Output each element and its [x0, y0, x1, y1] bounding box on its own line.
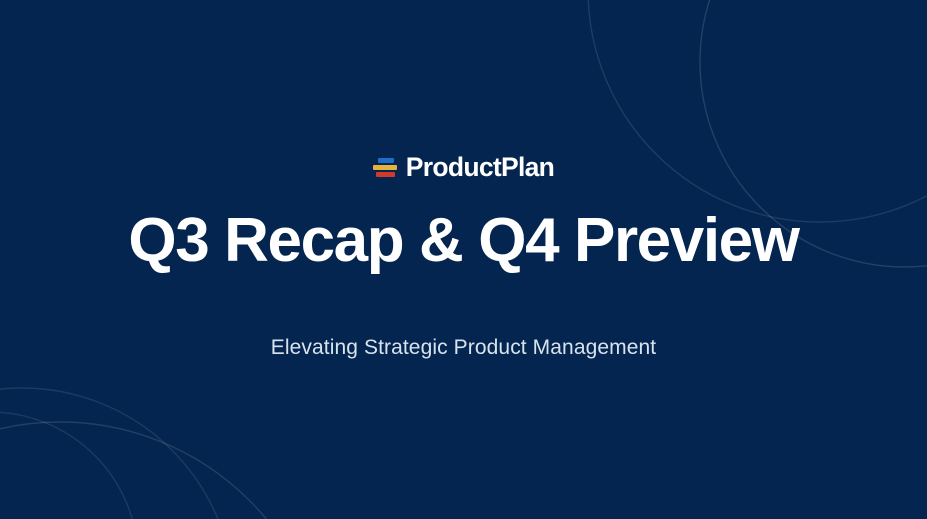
logo-bar-top [378, 158, 394, 163]
logo-bar-bottom [376, 172, 395, 177]
logo-bar-middle [373, 165, 397, 170]
productplan-logo: ProductPlan [373, 152, 554, 182]
productplan-bars-logo-icon [373, 158, 397, 177]
productplan-wordmark: ProductPlan [406, 154, 554, 181]
slide-title: Q3 Recap & Q4 Preview [128, 208, 798, 274]
title-slide: ProductPlan Q3 Recap & Q4 Preview Elevat… [0, 0, 927, 519]
slide-subtitle: Elevating Strategic Product Management [271, 335, 657, 360]
slide-content: ProductPlan Q3 Recap & Q4 Preview Elevat… [0, 0, 927, 519]
